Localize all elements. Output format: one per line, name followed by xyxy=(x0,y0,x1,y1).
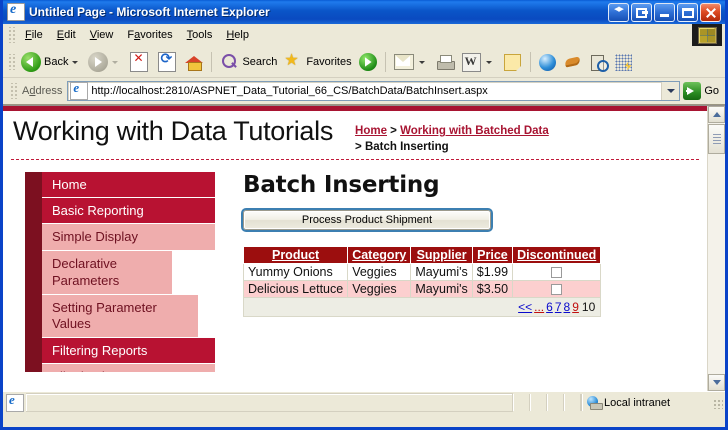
maximize-button[interactable] xyxy=(677,3,698,22)
browser-toolbar: Back Search Favorites xyxy=(3,47,725,78)
page-content: Home Basic Reporting Simple Display Decl… xyxy=(3,160,707,372)
sidebar-accent-bar xyxy=(25,172,42,198)
cell-product: Yummy Onions xyxy=(244,264,348,281)
resize-grip[interactable] xyxy=(711,394,725,411)
refresh-icon xyxy=(158,52,176,72)
status-page-icon xyxy=(6,394,24,412)
page-title: Batch Inserting xyxy=(243,172,707,198)
status-bar: Local intranet xyxy=(3,391,725,413)
browser-window: Untitled Page - Microsoft Internet Explo… xyxy=(0,0,728,430)
print-button[interactable] xyxy=(432,50,458,74)
msn-icon xyxy=(539,54,556,71)
grid-header-row: Product Category Supplier Price Disconti… xyxy=(244,247,601,264)
breadcrumb-section-link[interactable]: Working with Batched Data xyxy=(400,125,549,137)
sidebar-item-basic-reporting[interactable]: Basic Reporting xyxy=(25,198,215,224)
column-header-category[interactable]: Category xyxy=(348,247,411,264)
pager-page-6-link[interactable]: 6 xyxy=(546,300,553,314)
research-icon xyxy=(590,54,607,71)
media-icon xyxy=(359,53,377,71)
stop-button[interactable] xyxy=(125,50,153,74)
cell-category: Veggies xyxy=(348,264,411,281)
site-title: Working with Data Tutorials xyxy=(13,117,333,145)
research-button[interactable] xyxy=(586,50,611,74)
toolbar-separator-2 xyxy=(385,52,386,72)
media-button[interactable] xyxy=(355,50,381,74)
address-dropdown-icon[interactable] xyxy=(661,82,679,100)
breadcrumb-current: Batch Inserting xyxy=(365,141,449,153)
cell-price: $3.50 xyxy=(472,281,512,298)
msn-button[interactable] xyxy=(535,50,560,74)
cell-supplier: Mayumi's xyxy=(411,264,472,281)
menu-favorites[interactable]: Favorites xyxy=(120,27,179,43)
status-pane-3 xyxy=(547,394,564,411)
table-row: Yummy Onions Veggies Mayumi's $1.99 xyxy=(244,264,601,281)
address-url-text: http://localhost:2810/ASPNET_Data_Tutori… xyxy=(91,85,487,97)
page-viewport: Working with Data Tutorials Home > Worki… xyxy=(3,105,725,391)
edit-word-icon xyxy=(462,53,481,72)
forward-button[interactable] xyxy=(85,50,125,74)
menu-bar: File Edit View Favorites Tools Help xyxy=(3,24,725,47)
print-icon xyxy=(436,55,454,70)
sidebar-item-label: Home xyxy=(42,172,215,198)
notes-button[interactable] xyxy=(499,50,526,74)
windows-flag-icon xyxy=(698,27,717,44)
sidebar-item-setting-parameter-values[interactable]: Setting Parameter Values xyxy=(25,295,215,339)
cell-discontinued xyxy=(513,264,601,281)
pager-current-page: 10 xyxy=(582,300,595,314)
scrollbar-thumb[interactable] xyxy=(708,124,725,154)
grid-pager-row: <<...678910 xyxy=(244,298,601,317)
vertical-scrollbar[interactable] xyxy=(707,106,725,391)
sidebar-item-label: Filtering by Drop-D xyxy=(42,364,215,372)
go-button[interactable]: Go xyxy=(680,82,723,100)
intranet-zone-icon xyxy=(586,396,601,410)
products-grid: Product Category Supplier Price Disconti… xyxy=(243,246,601,317)
pager-first-link[interactable]: << xyxy=(518,300,532,314)
breadcrumb-sep-1: > xyxy=(387,125,400,137)
sidebar-accent-bar xyxy=(25,364,42,372)
process-product-shipment-button[interactable]: Process Product Shipment xyxy=(243,210,491,230)
sidebar-accent-bar xyxy=(25,198,42,224)
sidebar-accent-bar xyxy=(25,338,42,364)
back-icon xyxy=(21,52,41,72)
status-pane-2 xyxy=(530,394,547,411)
stop-icon xyxy=(130,52,148,72)
search-label: Search xyxy=(242,56,277,68)
address-label: Address xyxy=(22,85,62,97)
sidebar-accent-bar xyxy=(25,295,42,339)
edit-dropdown-icon[interactable] xyxy=(486,61,492,64)
back-dropdown-icon[interactable] xyxy=(72,61,78,64)
sidebar-accent-bar xyxy=(25,224,42,251)
page-icon xyxy=(70,82,88,100)
discontinued-checkbox[interactable] xyxy=(551,267,562,278)
cell-category: Veggies xyxy=(348,281,411,298)
pager-cell: <<...678910 xyxy=(244,298,601,317)
messenger-icon xyxy=(564,54,582,70)
toolbar-separator-3 xyxy=(530,52,531,72)
breadcrumb: Home > Working with Batched Data> Batch … xyxy=(355,124,549,155)
forward-icon xyxy=(88,52,108,72)
address-bar: Address http://localhost:2810/ASPNET_Dat… xyxy=(3,78,725,105)
column-header-supplier[interactable]: Supplier xyxy=(411,247,472,264)
go-label: Go xyxy=(704,85,719,97)
sidebar-item-label: Filtering Reports xyxy=(42,338,215,364)
back-button[interactable]: Back xyxy=(18,50,85,74)
go-icon xyxy=(683,82,701,100)
breadcrumb-home-link[interactable]: Home xyxy=(355,125,387,137)
column-header-price[interactable]: Price xyxy=(472,247,512,264)
cell-discontinued xyxy=(513,281,601,298)
back-label: Back xyxy=(44,56,68,68)
encoding-button[interactable] xyxy=(611,50,636,74)
status-pane-1 xyxy=(513,394,530,411)
toolbar-separator xyxy=(211,52,212,72)
favorites-button[interactable]: Favorites xyxy=(280,50,354,74)
pager-page-7-link[interactable]: 7 xyxy=(555,300,562,314)
sidebar-item-home[interactable]: Home xyxy=(25,172,215,198)
discontinued-checkbox[interactable] xyxy=(551,284,562,295)
page-header: Working with Data Tutorials Home > Worki… xyxy=(3,111,707,155)
menu-file[interactable]: File xyxy=(18,27,50,43)
table-row: Delicious Lettuce Veggies Mayumi's $3.50 xyxy=(244,281,601,298)
sidebar-item-simple-display[interactable]: Simple Display xyxy=(25,224,215,251)
notes-icon xyxy=(504,54,521,71)
menu-help[interactable]: Help xyxy=(219,27,256,43)
pager-page-8-link[interactable]: 8 xyxy=(564,300,571,314)
home-button[interactable] xyxy=(181,50,207,74)
sidebar-item-declarative-parameters[interactable]: Declarative Parameters xyxy=(25,251,215,295)
minimize-button[interactable] xyxy=(654,3,675,22)
ie-page-icon xyxy=(7,3,25,21)
close-button[interactable] xyxy=(700,3,721,22)
security-zone[interactable]: Local intranet xyxy=(581,394,711,411)
pager-page-9-link[interactable]: 9 xyxy=(572,300,579,314)
security-zone-label: Local intranet xyxy=(604,397,670,409)
home-icon xyxy=(185,54,203,70)
sidebar-item-label: Declarative Parameters xyxy=(42,251,172,295)
column-header-discontinued[interactable]: Discontinued xyxy=(513,247,601,264)
address-input[interactable]: http://localhost:2810/ASPNET_Data_Tutori… xyxy=(67,81,680,101)
menu-tools[interactable]: Tools xyxy=(180,27,220,43)
search-button[interactable]: Search xyxy=(216,50,280,74)
web-page: Working with Data Tutorials Home > Worki… xyxy=(3,106,707,391)
menu-view[interactable]: View xyxy=(83,27,121,43)
scroll-up-button[interactable] xyxy=(708,106,725,123)
status-message xyxy=(26,393,513,412)
restore-down-button[interactable] xyxy=(631,3,652,22)
edit-word-button[interactable] xyxy=(458,50,499,74)
sidebar-item-label: Basic Reporting xyxy=(42,198,215,224)
search-icon xyxy=(220,53,238,71)
sidebar-item-label: Setting Parameter Values xyxy=(42,295,198,339)
cell-product: Delicious Lettuce xyxy=(244,281,348,298)
toolbar-gripper[interactable] xyxy=(7,54,15,70)
pager-ellipsis-prev-link[interactable]: ... xyxy=(534,300,544,314)
window-title: Untitled Page - Microsoft Internet Explo… xyxy=(29,5,270,19)
sidebar-item-filtering-reports[interactable]: Filtering Reports xyxy=(25,338,215,364)
main-column: Batch Inserting Process Product Shipment… xyxy=(243,172,707,372)
status-pane-4 xyxy=(564,394,581,411)
breadcrumb-sep-2: > xyxy=(355,141,365,153)
sidebar-accent-bar xyxy=(25,251,42,295)
cell-supplier: Mayumi's xyxy=(411,281,472,298)
favorites-icon xyxy=(284,53,302,71)
column-header-product[interactable]: Product xyxy=(244,247,348,264)
sidebar-nav: Home Basic Reporting Simple Display Decl… xyxy=(25,172,215,372)
favorites-label: Favorites xyxy=(306,56,351,68)
refresh-button[interactable] xyxy=(153,50,181,74)
title-bar: Untitled Page - Microsoft Internet Explo… xyxy=(3,0,725,24)
forward-dropdown-icon xyxy=(112,61,118,64)
encoding-icon xyxy=(615,54,632,71)
menu-gripper[interactable] xyxy=(7,27,15,43)
messenger-button[interactable] xyxy=(560,50,586,74)
sidebar-item-filtering-by-dropdown[interactable]: Filtering by Drop-D xyxy=(25,364,215,372)
menu-edit[interactable]: Edit xyxy=(50,27,83,43)
scroll-down-button[interactable] xyxy=(708,374,725,391)
address-gripper[interactable] xyxy=(9,83,17,99)
sidebar-item-label: Simple Display xyxy=(42,224,215,251)
mail-icon xyxy=(394,54,414,70)
ie-brand-logo xyxy=(692,24,722,46)
mail-dropdown-icon[interactable] xyxy=(419,61,425,64)
restore-group-button[interactable] xyxy=(608,3,629,22)
mail-button[interactable] xyxy=(390,50,432,74)
window-controls xyxy=(608,3,723,22)
cell-price: $1.99 xyxy=(472,264,512,281)
